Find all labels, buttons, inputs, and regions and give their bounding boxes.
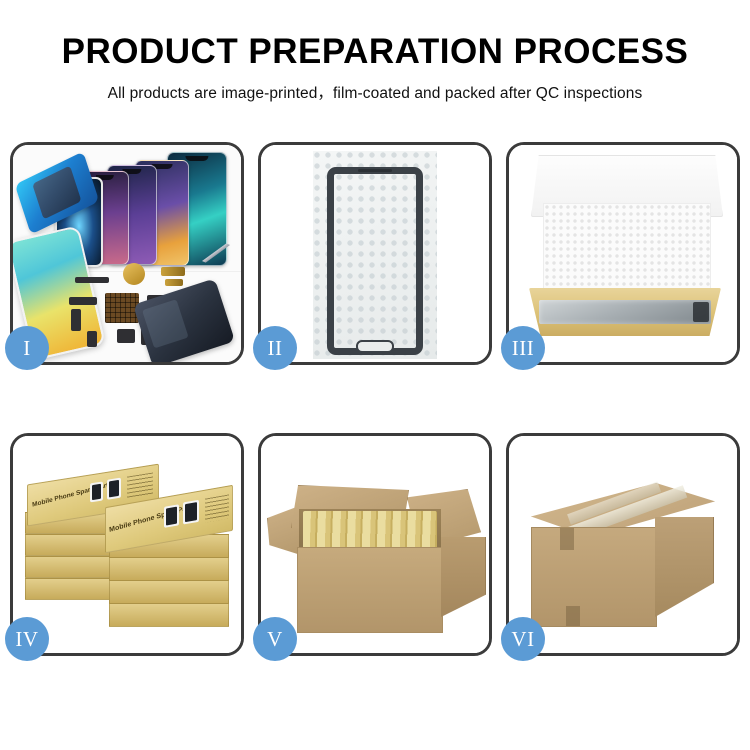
process-step-panel-4: Mobile Phone Spare Parts Mobile Phone Sp… <box>10 433 244 656</box>
foam-padding-icon <box>543 203 711 297</box>
camera-module-icon <box>117 329 135 343</box>
step-1-image <box>13 145 241 362</box>
step-badge-3: III <box>501 326 545 370</box>
process-step-panel-2: II <box>258 142 492 365</box>
gold-boxes-inside-icon <box>303 511 437 549</box>
speaker-part-icon <box>75 277 109 283</box>
carton-front-face-icon <box>531 527 657 627</box>
screen-assembly-icon <box>327 167 423 355</box>
step-3-image <box>509 145 737 362</box>
flex-cable-icon <box>165 279 183 286</box>
step-6-image <box>509 436 737 653</box>
process-step-panel-6: VI <box>506 433 740 656</box>
step-badge-1: I <box>5 326 49 370</box>
process-step-grid: I II III <box>10 142 740 656</box>
page-title: PRODUCT PREPARATION PROCESS <box>0 34 750 69</box>
step-badge-5: V <box>253 617 297 661</box>
step-2-image <box>261 145 489 362</box>
home-button-icon <box>356 340 394 353</box>
page-subtitle: All products are image-printed，film-coat… <box>0 69 750 103</box>
bubble-wrap-icon <box>313 151 437 359</box>
flex-cable-icon <box>161 267 185 276</box>
step-badge-6: VI <box>501 617 545 661</box>
process-step-panel-1: I <box>10 142 244 365</box>
connector-icon <box>69 297 97 305</box>
step-4-image: Mobile Phone Spare Parts Mobile Phone Sp… <box>13 436 241 653</box>
step-badge-4: IV <box>5 617 49 661</box>
page-header: PRODUCT PREPARATION PROCESS All products… <box>0 0 750 103</box>
box-stack-icon: Mobile Phone Spare Parts Mobile Phone Sp… <box>21 450 233 642</box>
wrapped-screen-icon <box>539 300 711 324</box>
step-badge-2: II <box>253 326 297 370</box>
bracket-icon <box>71 309 81 331</box>
process-step-panel-3: III <box>506 142 740 365</box>
carton-front-face-icon <box>297 547 443 633</box>
wireless-coil-icon <box>123 263 145 285</box>
sim-tray-icon <box>87 331 97 347</box>
step-5-image <box>261 436 489 653</box>
process-step-panel-5: V <box>258 433 492 656</box>
